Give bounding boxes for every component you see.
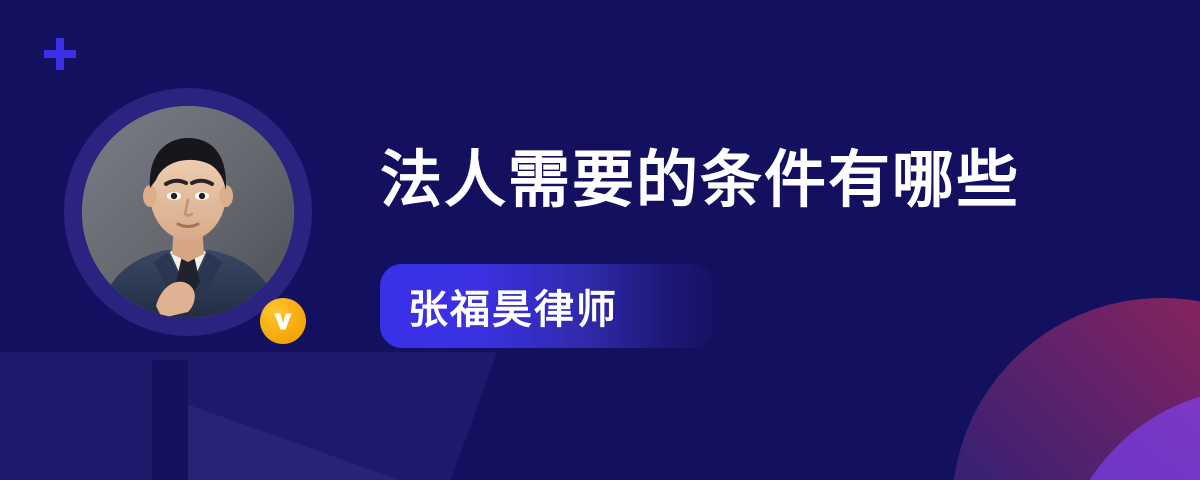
headline-block: 法人需要的条件有哪些 [380,150,1140,212]
decorative-stem-shape [152,360,188,480]
avatar-photo [82,106,294,318]
plus-icon-vertical-bar [56,38,64,70]
lawyer-article-banner: 法人需要的条件有哪些 张福昊律师 [0,0,1200,480]
author-pill[interactable]: 张福昊律师 [380,264,714,348]
plus-icon [44,38,76,70]
page-title: 法人需要的条件有哪些 [380,150,1140,212]
avatar[interactable] [64,88,312,336]
decorative-triangle-shape [186,404,456,480]
author-name: 张福昊律师 [408,277,618,335]
verified-badge-icon [260,298,306,344]
